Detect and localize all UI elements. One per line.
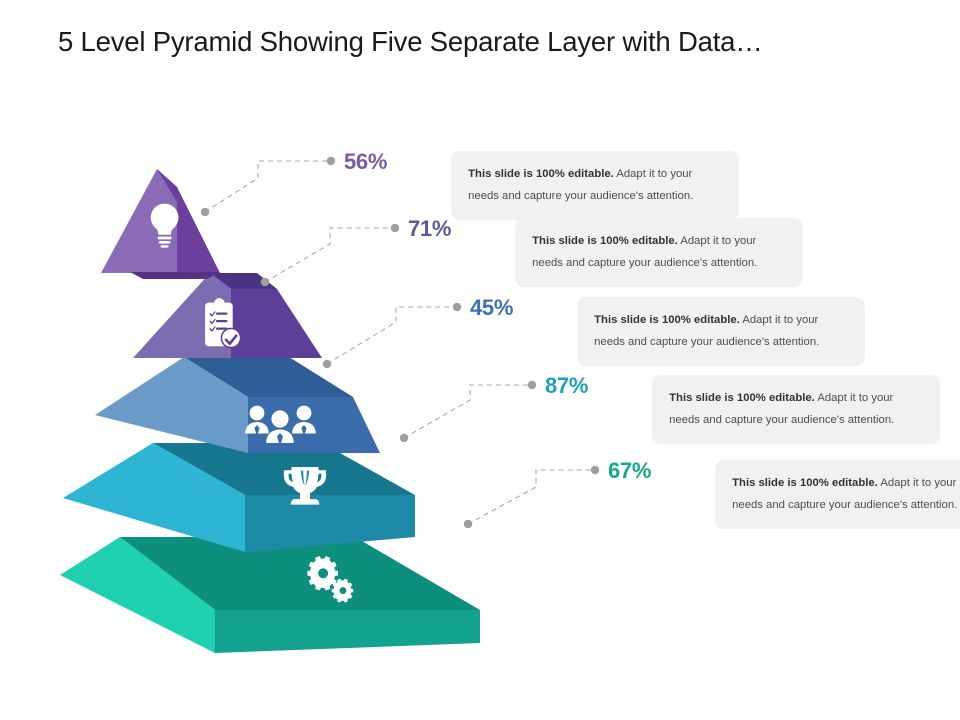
text-line2-3: needs and capture your audience's attent… [594,332,848,354]
text-card-2: This slide is 100% editable. Adapt it to… [515,218,803,287]
text-rest-2: Adapt it to your [678,235,757,247]
text-bold-3: This slide is 100% editable. [594,314,740,326]
text-bold-4: This slide is 100% editable. [669,392,815,404]
tier-1-base-shadow [130,272,220,279]
text-rest-5: Adapt it to your [878,477,957,489]
percent-value-5: 67% [608,460,651,482]
percent-value-1: 56% [344,151,387,173]
text-line2-2: needs and capture your audience's attent… [532,253,786,275]
pyramid-tier-3-team [95,357,380,453]
text-line2-5: needs and capture your audience's attent… [732,495,960,517]
percent-value-4: 87% [545,375,588,397]
tier-2-front-face [231,289,322,358]
text-rest-4: Adapt it to your [815,392,894,404]
pyramid-tier-5-gears [60,537,480,653]
text-bold-2: This slide is 100% editable. [532,235,678,247]
tier-5-front-face [215,610,480,653]
text-card-1: This slide is 100% editable. Adapt it to… [451,151,739,220]
pyramid-tier-2-clipboard [133,273,322,358]
connector-dot-target-4 [528,381,536,389]
callout-row-2: 71% This slide is 100% editable. Adapt i… [408,218,803,287]
callout-row-4: 87% This slide is 100% editable. Adapt i… [545,375,940,444]
percent-value-3: 45% [470,297,513,319]
text-card-5: This slide is 100% editable. Adapt it to… [715,460,960,529]
pyramid-tier-1-lightbulb [101,169,220,279]
callout-row-3: 45% This slide is 100% editable. Adapt i… [470,297,865,366]
connector-dot-target-5 [591,466,599,474]
text-card-3: This slide is 100% editable. Adapt it to… [577,297,865,366]
text-card-4: This slide is 100% editable. Adapt it to… [652,375,940,444]
callout-row-5: 67% This slide is 100% editable. Adapt i… [608,460,960,529]
tier-4-front-face [245,495,415,552]
tier-3-front-face [248,397,380,453]
text-rest-1: Adapt it to your [614,168,693,180]
callout-row-1: 56% This slide is 100% editable. Adapt i… [344,151,739,220]
text-bold-5: This slide is 100% editable. [732,477,878,489]
text-rest-3: Adapt it to your [740,314,819,326]
text-line2-1: needs and capture your audience's attent… [468,186,722,208]
text-bold-1: This slide is 100% editable. [468,168,614,180]
percent-value-2: 71% [408,218,451,240]
text-line2-4: needs and capture your audience's attent… [669,410,923,432]
pyramid-tier-4-trophy [63,443,415,552]
page-title: 5 Level Pyramid Showing Five Separate La… [58,26,938,58]
